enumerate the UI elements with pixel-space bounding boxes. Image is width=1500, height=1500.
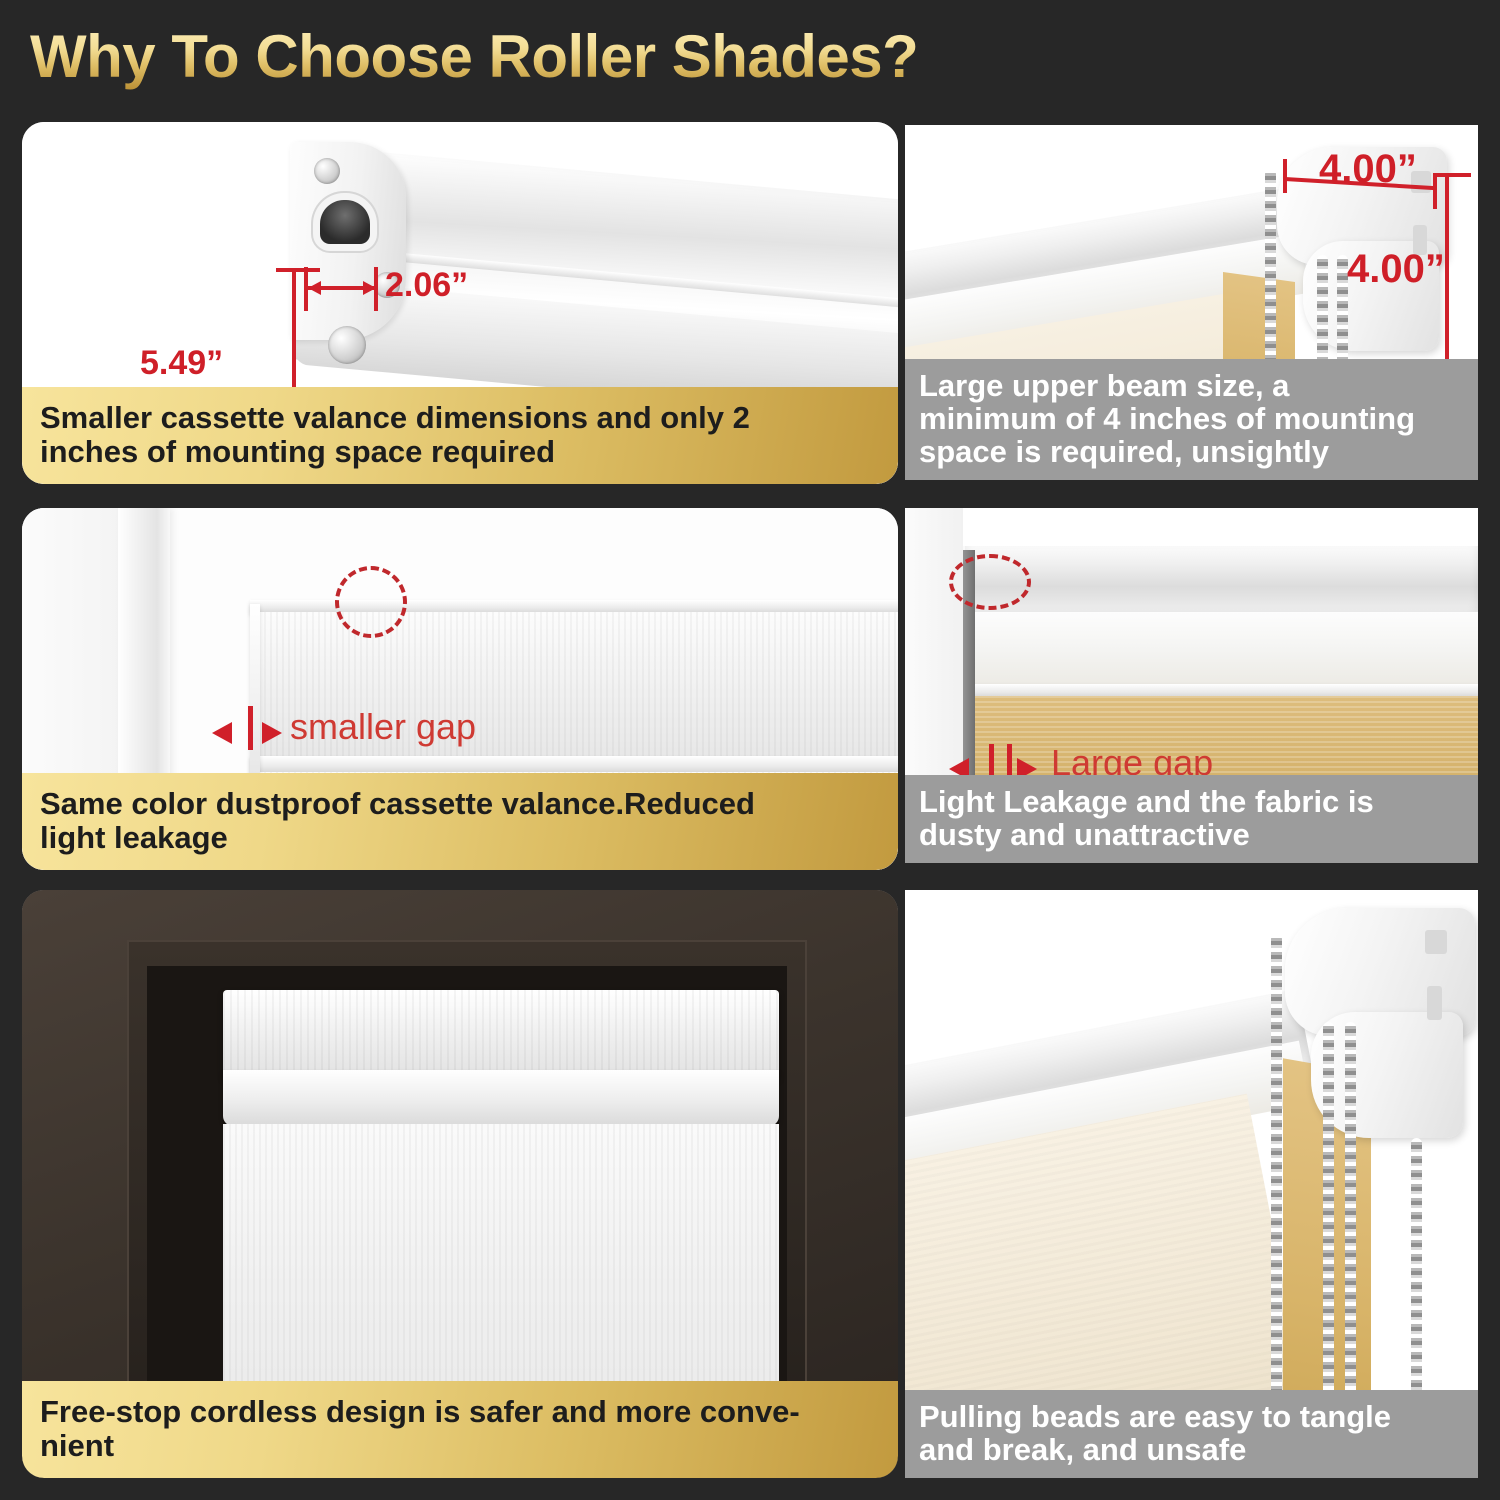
height-extension-top <box>276 268 320 272</box>
gap-callout-label: smaller gap <box>290 706 476 748</box>
height-dimension-label: 4.00” <box>1347 247 1445 292</box>
infographic-page: Why To Choose Roller Shades? 2.06” <box>0 0 1500 1500</box>
page-title: Why To Choose Roller Shades? <box>30 22 918 91</box>
scene-top-white <box>905 508 1478 546</box>
caption-cassette-dimensions: Smaller cassette valance dimensions and … <box>22 387 898 484</box>
caption-line: minimum of 4 inches of mounting <box>919 402 1464 435</box>
screw-icon <box>328 326 366 364</box>
caption-large-gap: Light Leakage and the fabric is dusty an… <box>905 775 1478 863</box>
caption-line: Light Leakage and the fabric is <box>919 785 1464 818</box>
caption-line: Large upper beam size, a <box>919 369 1464 402</box>
cassette-slot <box>320 200 370 244</box>
white-fabric-band <box>965 612 1478 688</box>
caption-line: inches of mounting space required <box>40 435 880 468</box>
caption-cordless-design: Free-stop cordless design is safer and m… <box>22 1381 898 1478</box>
width-extension-right <box>1433 175 1437 209</box>
bead-chain <box>1345 1022 1356 1452</box>
bead-chain <box>1323 1022 1334 1452</box>
caption-smaller-gap: Same color dustproof cassette valance.Re… <box>22 773 898 870</box>
bead-chain <box>1271 934 1282 1454</box>
panel-cordless-design: Free-stop cordless design is safer and m… <box>22 890 898 1478</box>
panel-upper-beam-dimensions: 4.00” 4.00” Large upper beam size, a min… <box>905 125 1478 480</box>
bracket-notch <box>1425 930 1447 954</box>
panel-cassette-dimensions: 2.06” 5.49” Smaller cassette valance dim… <box>22 122 898 484</box>
cassette-valance <box>223 990 779 1078</box>
gap-arrow-left-icon <box>212 722 232 744</box>
caption-line: dusty and unattractive <box>919 818 1464 851</box>
caption-line: and break, and unsafe <box>919 1433 1464 1466</box>
highlight-circle <box>949 554 1031 610</box>
caption-line: light leakage <box>40 821 880 854</box>
caption-line: nient <box>40 1429 880 1462</box>
caption-line: Same color dustproof cassette valance.Re… <box>40 787 880 820</box>
panel-large-gap: Large gap Light Leakage and the fabric i… <box>905 508 1478 863</box>
width-dimension-label: 4.00” <box>1319 147 1417 192</box>
screw-icon <box>314 158 340 184</box>
width-arrow-left-icon <box>308 281 321 295</box>
caption-line: Pulling beads are easy to tangle <box>919 1400 1464 1433</box>
caption-line: Smaller cassette valance dimensions and … <box>40 401 880 434</box>
valance-lip <box>223 1070 779 1126</box>
gap-marker-line <box>248 706 253 750</box>
caption-pulling-beads: Pulling beads are easy to tangle and bre… <box>905 1390 1478 1478</box>
height-dimension-line <box>1445 173 1449 373</box>
height-extension-top <box>1433 173 1471 177</box>
panel-pulling-beads: Pulling beads are easy to tangle and bre… <box>905 890 1478 1478</box>
bracket-notch <box>1427 986 1442 1020</box>
height-dimension-label: 5.49” <box>140 344 223 383</box>
caption-upper-beam: Large upper beam size, a minimum of 4 in… <box>905 359 1478 480</box>
caption-line: space is required, unsightly <box>919 435 1464 468</box>
width-arrow-right-icon <box>363 281 376 295</box>
highlight-circle <box>335 566 407 638</box>
upper-beam <box>965 546 1478 620</box>
width-dimension-label: 2.06” <box>385 266 468 305</box>
caption-line: Free-stop cordless design is safer and m… <box>40 1395 880 1428</box>
gap-arrow-right-icon <box>262 722 282 744</box>
panel-smaller-gap: smaller gap Same color dustproof cassett… <box>22 508 898 870</box>
